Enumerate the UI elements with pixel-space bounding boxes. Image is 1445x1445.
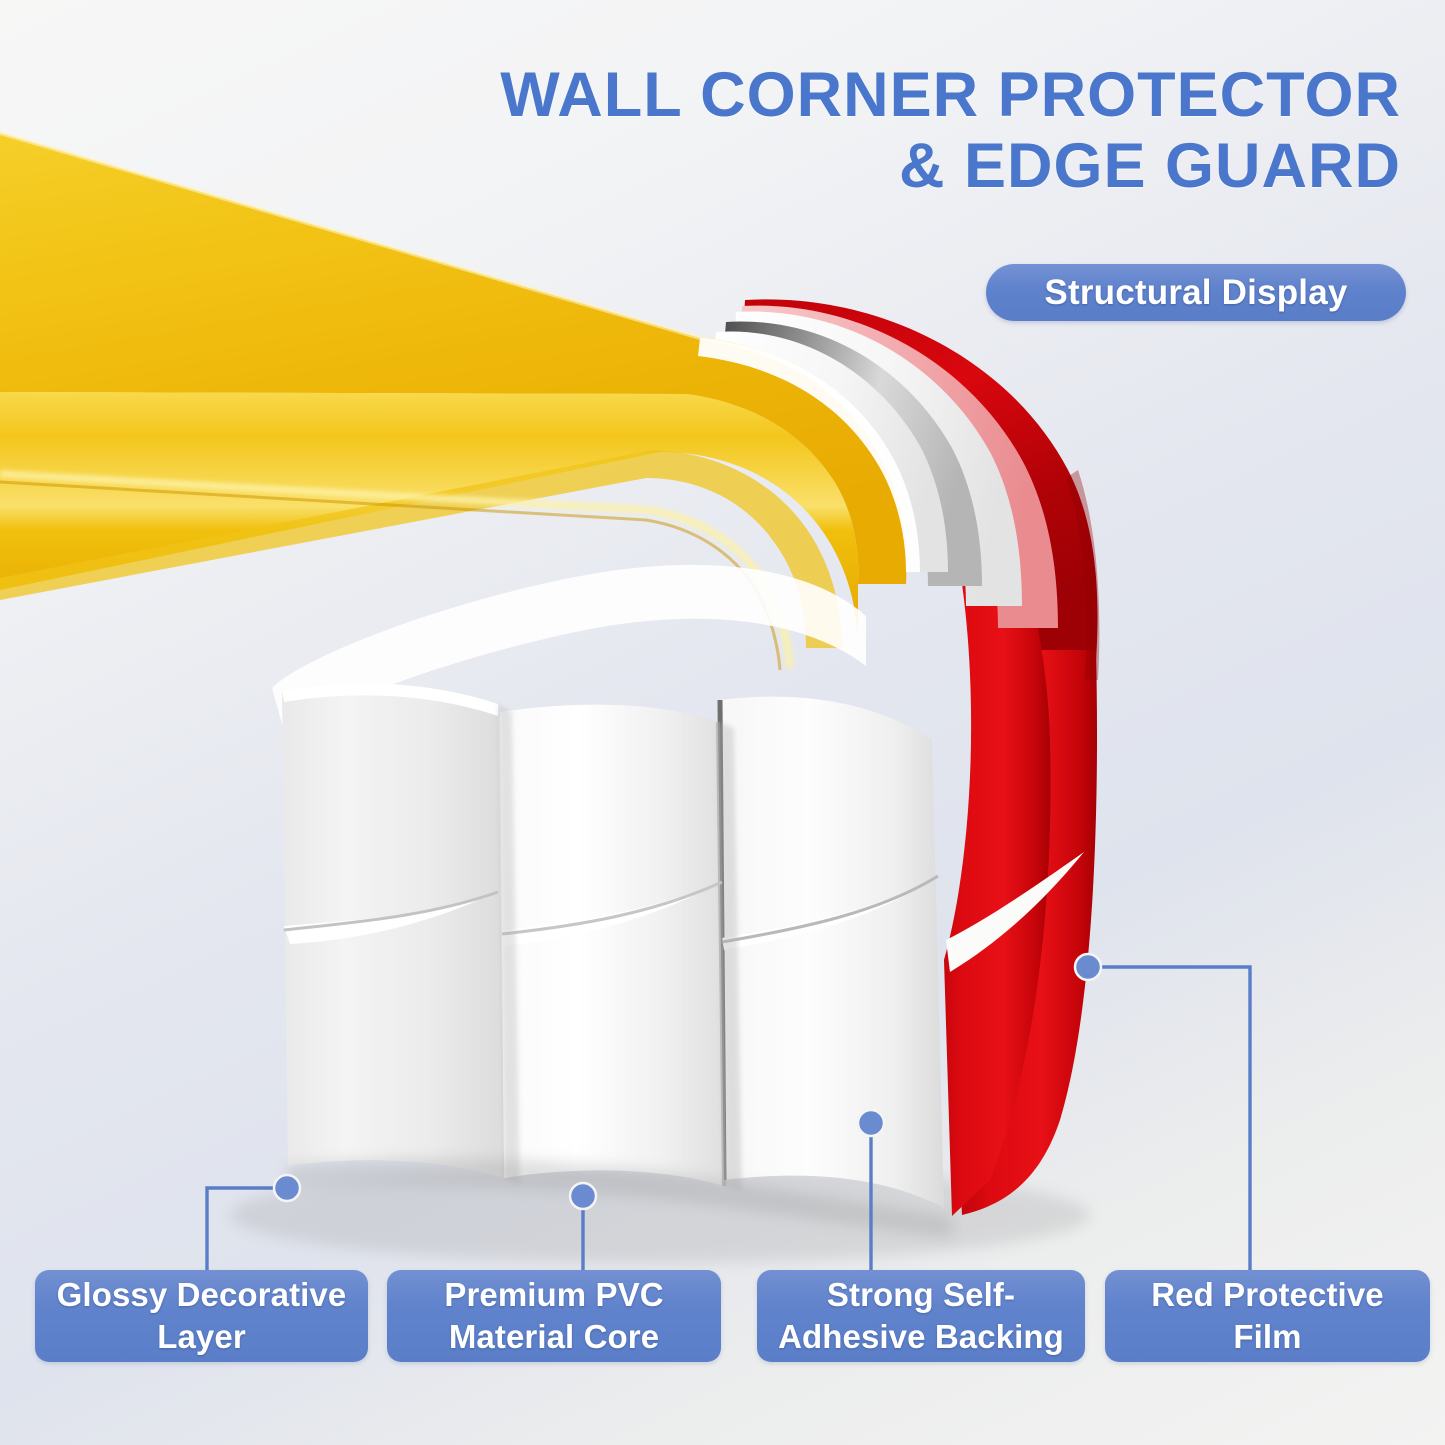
callout-label-text: Premium PVC Material Core: [397, 1274, 711, 1357]
callout-label-strong-self-adhesive-backing: Strong Self-Adhesive Backing: [757, 1270, 1085, 1362]
callout-label-red-protective-film: Red Protective Film: [1105, 1270, 1430, 1362]
panel-pvc-core: [500, 705, 742, 1192]
panel-decorative-layer: [282, 683, 520, 1186]
title-line-2: & EDGE GUARD: [241, 131, 1401, 202]
page-title: WALL CORNER PROTECTOR & EDGE GUARD: [241, 60, 1401, 202]
badge-label: Structural Display: [1044, 273, 1347, 313]
callout-label-text: Strong Self-Adhesive Backing: [767, 1274, 1075, 1357]
callout-label-text: Red Protective Film: [1115, 1274, 1420, 1357]
structural-display-badge: Structural Display: [986, 264, 1406, 321]
title-line-1: WALL CORNER PROTECTOR: [241, 60, 1401, 131]
product-illustration: [0, 0, 1445, 1445]
panel-self-adhesive-backing: [720, 697, 944, 1208]
product-infographic: WALL CORNER PROTECTOR & EDGE GUARD Struc…: [0, 0, 1445, 1445]
callout-label-premium-pvc-material-core: Premium PVC Material Core: [387, 1270, 721, 1362]
callout-label-text: Glossy Decorative Layer: [45, 1274, 358, 1357]
callout-label-glossy-decorative-layer: Glossy Decorative Layer: [35, 1270, 368, 1362]
